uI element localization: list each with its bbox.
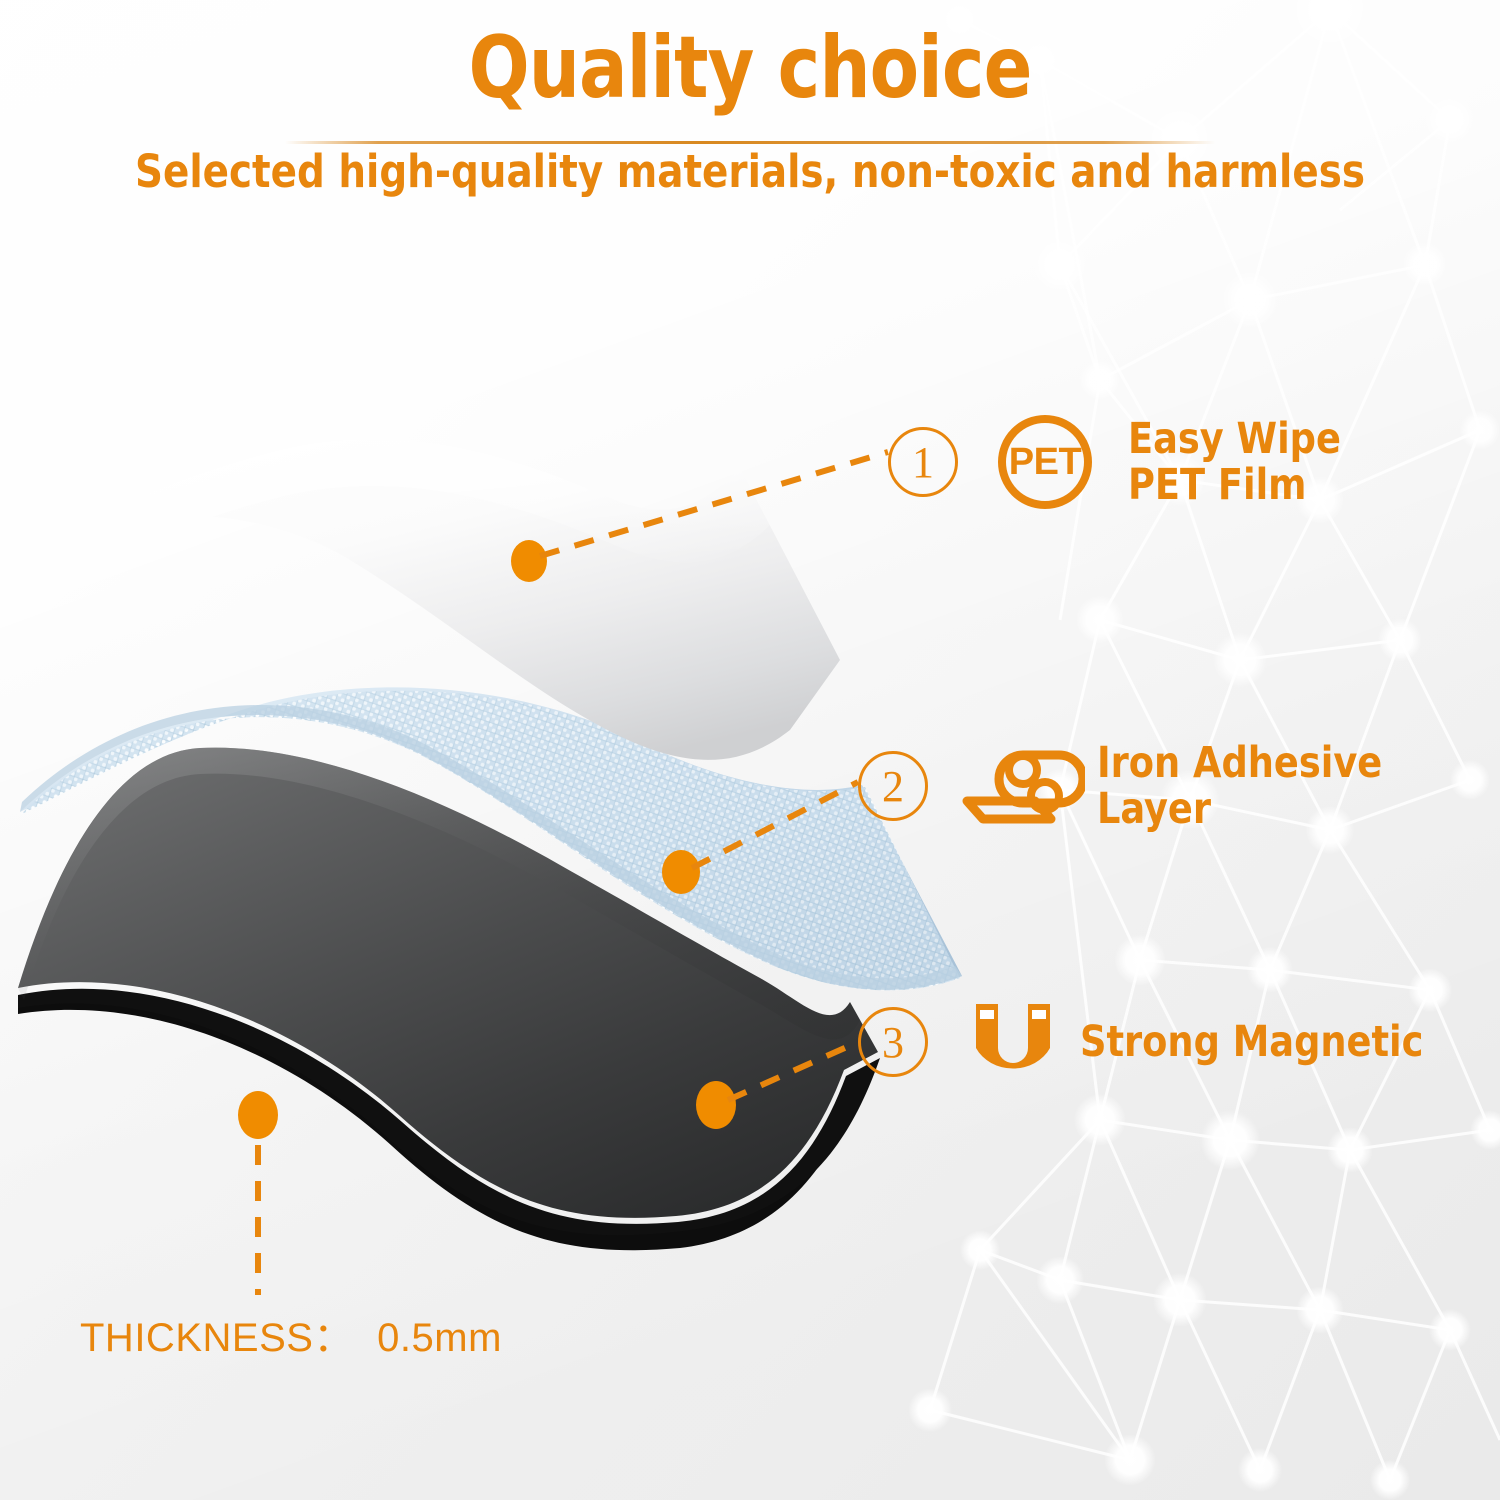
step-badge-1: 1 xyxy=(888,427,958,497)
callout-row-2: 2 Iron Adhesive Layer xyxy=(858,740,1500,833)
pet-circle-icon-text: PET xyxy=(998,415,1092,509)
step-badge-3: 3 xyxy=(858,1007,928,1077)
page-subtitle: Selected high-quality materials, non-tox… xyxy=(30,119,1470,198)
page-title: Quality choice xyxy=(53,0,1448,119)
callout-row-3: 3 Strong Magnetic xyxy=(858,1000,1442,1084)
adhesive-roll-icon xyxy=(961,743,1085,829)
feature-label-1: Easy Wipe PET Film xyxy=(1128,416,1341,509)
header: Quality choice Selected high-quality mat… xyxy=(0,0,1500,198)
horseshoe-magnet-icon-glyph xyxy=(972,1000,1054,1084)
callout-dot-1 xyxy=(511,540,547,582)
feature-label-2: Iron Adhesive Layer xyxy=(1097,740,1479,833)
callout-dot-2 xyxy=(662,850,700,894)
pet-circle-icon: PET xyxy=(998,415,1092,509)
callout-dot-thickness xyxy=(238,1091,278,1139)
callout-row-1: 1 PET Easy Wipe PET Film xyxy=(888,415,1352,509)
adhesive-roll-icon-glyph xyxy=(961,743,1085,829)
infographic-canvas: Quality choice Selected high-quality mat… xyxy=(0,0,1500,1500)
callout-dot-3 xyxy=(696,1081,736,1129)
feature-label-3: Strong Magnetic xyxy=(1080,1019,1423,1065)
horseshoe-magnet-icon xyxy=(972,1000,1054,1084)
thickness-note: THICKNESS： 0.5mm xyxy=(80,1305,502,1363)
step-badge-2: 2 xyxy=(858,751,928,821)
